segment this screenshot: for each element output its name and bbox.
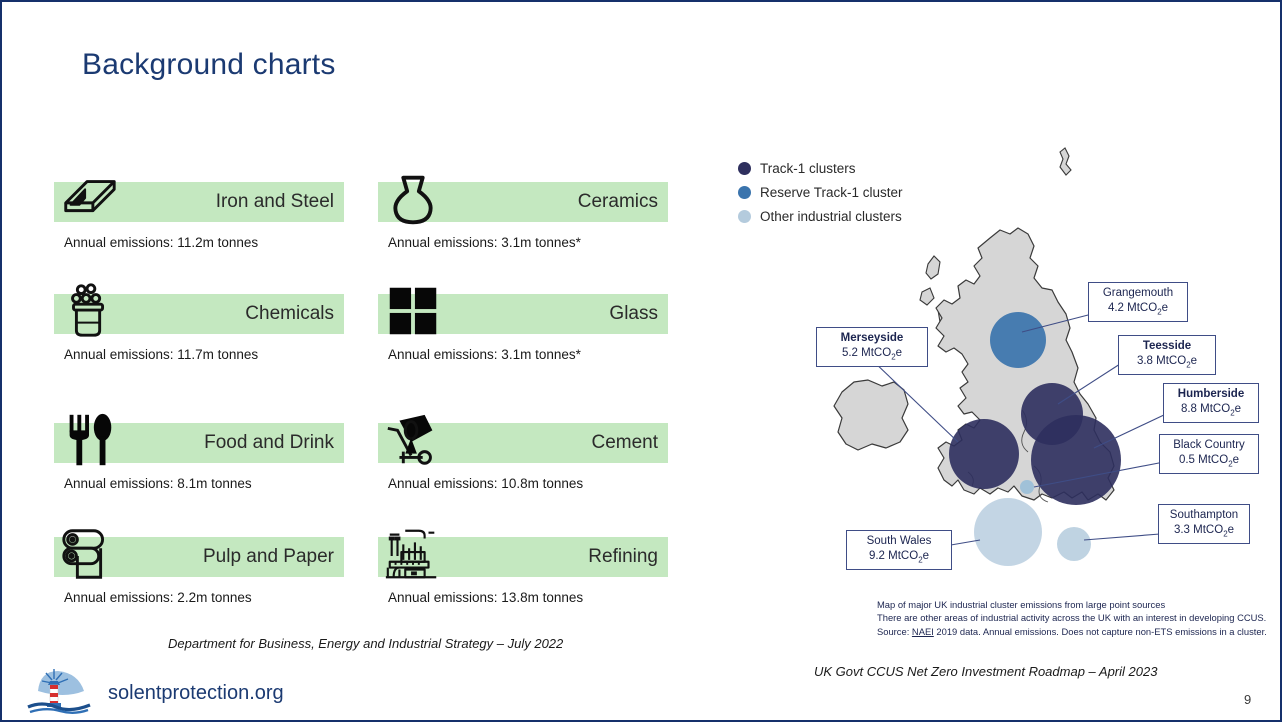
fork-spoon-icon — [58, 409, 120, 471]
beaker-icon — [58, 280, 120, 342]
callout-name: South Wales — [853, 534, 945, 549]
sector-emissions: Annual emissions: 11.7m tonnes — [64, 347, 258, 362]
callout-southampton[interactable]: Southampton 3.3 MtCO2e — [1158, 504, 1250, 544]
sector-card-refining[interactable]: Refining Annual emissio — [378, 527, 670, 639]
sector-label: Food and Drink — [204, 432, 334, 454]
callout-grangemouth[interactable]: Grangemouth 4.2 MtCO2e — [1088, 282, 1188, 322]
sector-label: Glass — [609, 303, 658, 325]
sector-card-ceramics[interactable]: Ceramics Annual emissions: 3.1m tonnes* — [378, 172, 670, 284]
sector-card-iron-and-steel[interactable]: Iron and Steel Annual emissions: 11.2m t… — [54, 172, 346, 284]
cluster-bubble-south-wales — [974, 498, 1042, 566]
cluster-bubble-merseyside — [949, 419, 1019, 489]
source-left: Department for Business, Energy and Indu… — [168, 636, 563, 651]
sector-label: Chemicals — [245, 303, 334, 325]
callout-value: 8.8 MtCO2e — [1170, 402, 1252, 419]
wheelbarrow-icon — [382, 409, 444, 471]
callout-value: 0.5 MtCO2e — [1166, 453, 1252, 470]
map-panel: Track-1 clusters Reserve Track-1 cluster… — [722, 142, 1274, 642]
cluster-bubble-black-country — [1020, 480, 1034, 494]
leader-line-southampton — [1084, 534, 1160, 540]
callout-value: 9.2 MtCO2e — [853, 549, 945, 566]
callout-name: Grangemouth — [1095, 286, 1181, 301]
sector-emissions: Annual emissions: 13.8m tonnes — [388, 590, 583, 605]
callout-value: 3.3 MtCO2e — [1165, 523, 1243, 540]
sector-card-chemicals[interactable]: Chemicals Annual emissions: 11.7m tonnes — [54, 284, 346, 396]
callout-name: Southampton — [1165, 508, 1243, 523]
sector-emissions: Annual emissions: 3.1m tonnes* — [388, 347, 581, 362]
cluster-bubble-southampton — [1057, 527, 1091, 561]
sector-label: Iron and Steel — [216, 191, 334, 213]
sector-emissions: Annual emissions: 3.1m tonnes* — [388, 235, 581, 250]
sector-emissions: Annual emissions: 2.2m tonnes — [64, 590, 252, 605]
sector-emissions: Annual emissions: 11.2m tonnes — [64, 235, 258, 250]
callout-name: Teesside — [1125, 339, 1209, 354]
callout-teesside[interactable]: Teesside 3.8 MtCO2e — [1118, 335, 1216, 375]
sector-card-pulp-and-paper[interactable]: Pulp and Paper Annual emissions: 2.2m to… — [54, 527, 346, 639]
cluster-bubble-grangemouth — [990, 312, 1046, 368]
paper-roll-icon — [58, 523, 120, 585]
callout-value: 4.2 MtCO2e — [1095, 301, 1181, 318]
map-footnote-line-1: Map of major UK industrial cluster emiss… — [877, 598, 1267, 611]
callout-name: Merseyside — [823, 331, 921, 346]
naei-link[interactable]: NAEI — [912, 626, 934, 637]
sector-emissions: Annual emissions: 8.1m tonnes — [64, 476, 252, 491]
sector-label: Ceramics — [578, 191, 658, 213]
callout-name: Black Country — [1166, 438, 1252, 453]
callout-black-country[interactable]: Black Country 0.5 MtCO2e — [1159, 434, 1259, 474]
sector-emissions: Annual emissions: 10.8m tonnes — [388, 476, 583, 491]
sector-card-glass[interactable]: Glass Annual emissions: 3.1m tonnes* — [378, 284, 670, 396]
brand-name: solentprotection.org — [108, 682, 284, 705]
map-footnote-line-2: There are other areas of industrial acti… — [877, 611, 1267, 624]
callout-merseyside[interactable]: Merseyside 5.2 MtCO2e — [816, 327, 928, 367]
callout-value: 3.8 MtCO2e — [1125, 354, 1209, 371]
sector-label: Cement — [591, 432, 658, 454]
map-footnote-line-3: Source: NAEI 2019 data. Annual emissions… — [877, 625, 1267, 638]
callout-name: Humberside — [1170, 387, 1252, 402]
page-number: 9 — [1244, 692, 1251, 707]
source-right: UK Govt CCUS Net Zero Investment Roadmap… — [814, 664, 1157, 679]
window-pane-icon — [382, 280, 444, 342]
refinery-icon — [382, 523, 444, 585]
callout-humberside[interactable]: Humberside 8.8 MtCO2e — [1163, 383, 1259, 423]
callout-value: 5.2 MtCO2e — [823, 346, 921, 363]
vase-icon — [382, 168, 444, 230]
i-beam-icon — [58, 168, 120, 230]
map-footnote: Map of major UK industrial cluster emiss… — [877, 598, 1267, 638]
sector-card-cement[interactable]: Cement Annual emissions: 10.8m tonnes — [378, 413, 670, 525]
callout-south-wales[interactable]: South Wales 9.2 MtCO2e — [846, 530, 952, 570]
sector-label: Refining — [588, 546, 658, 568]
solent-protection-logo — [24, 665, 96, 715]
sector-card-food-and-drink[interactable]: Food and Drink Annual emissions: 8.1m to… — [54, 413, 346, 525]
sector-label: Pulp and Paper — [203, 546, 334, 568]
slide-canvas: Background charts Iron and Steel Annual … — [0, 0, 1282, 722]
cluster-bubble-humberside — [1031, 415, 1121, 505]
page-title: Background charts — [82, 48, 336, 82]
